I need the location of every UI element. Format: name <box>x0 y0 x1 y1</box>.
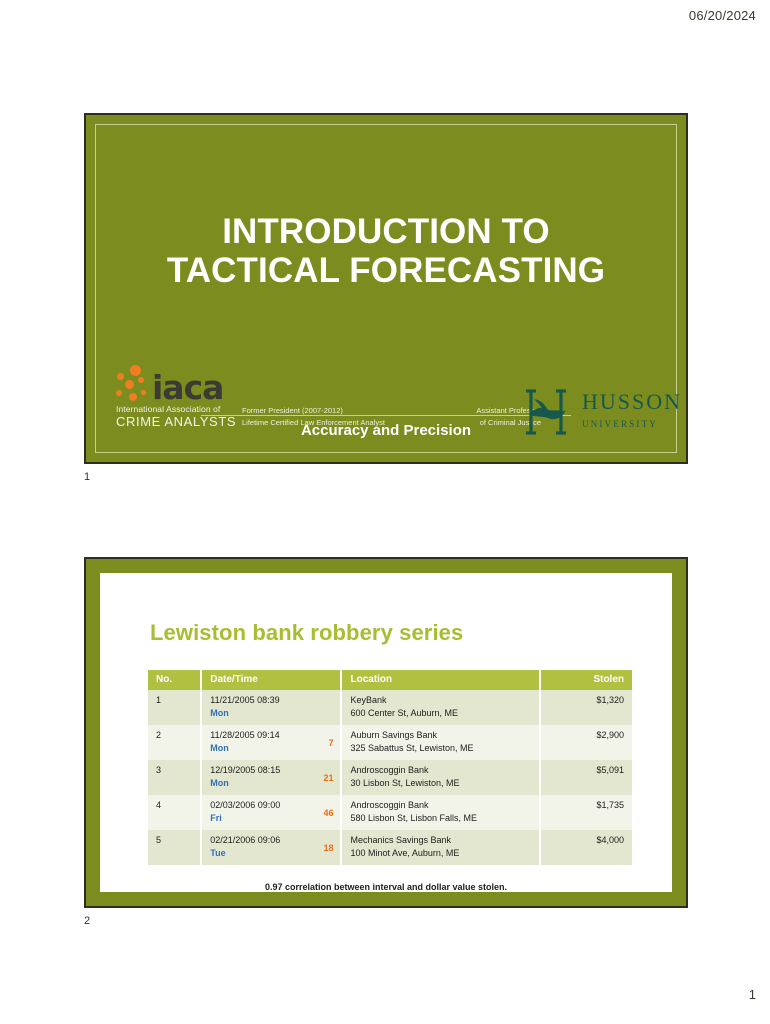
cell-stolen: $2,900 <box>540 725 632 760</box>
cell-location-address: 325 Sabattus St, Lewiston, ME <box>350 743 530 753</box>
husson-wordmark: HUSSON UNIVERSITY <box>582 392 682 432</box>
cell-no: 1 <box>148 690 201 725</box>
cell-datetime: 11/21/2005 08:39 Mon <box>201 690 341 725</box>
cell-location: Mechanics Savings Bank 100 Minot Ave, Au… <box>341 830 539 865</box>
cell-day: Tue <box>210 848 310 858</box>
table-header-row: No. Date/Time Location Stolen <box>148 670 632 690</box>
cell-datetime: 11/28/2005 09:14 Mon 7 <box>201 725 341 760</box>
cell-datetime: 02/21/2006 09:06 Tue 18 <box>201 830 341 865</box>
cell-datetime: 02/03/2006 09:00 Fri 46 <box>201 795 341 830</box>
cell-interval-days: 46 <box>323 808 333 818</box>
slide-2-canvas: Lewiston bank robbery series No. Date/Ti… <box>84 557 688 908</box>
cell-no: 2 <box>148 725 201 760</box>
author-credit-line-1: Former President (2007-2012) <box>242 405 385 417</box>
cell-location-name: Auburn Savings Bank <box>350 730 530 740</box>
husson-wordmark-subname: UNIVERSITY <box>582 419 658 429</box>
cell-day: Mon <box>210 743 310 753</box>
cell-location: KeyBank 600 Center St, Auburn, ME <box>341 690 539 725</box>
slide-2-content-area: Lewiston bank robbery series No. Date/Ti… <box>100 573 672 892</box>
table-row[interactable]: 2 11/28/2005 09:14 Mon 7 Auburn Savings … <box>148 725 632 760</box>
column-header-stolen[interactable]: Stolen <box>540 670 632 690</box>
page-number: 1 <box>749 987 756 1002</box>
husson-logo: HUSSON UNIVERSITY <box>523 387 682 437</box>
cell-location-address: 600 Center St, Auburn, ME <box>350 708 530 718</box>
slide-1-title-line-1: INTRODUCTION TO <box>86 212 686 251</box>
cell-datetime: 12/19/2005 08:15 Mon 21 <box>201 760 341 795</box>
cell-day: Mon <box>210 778 310 788</box>
cell-day: Fri <box>210 813 310 823</box>
table-row[interactable]: 5 02/21/2006 09:06 Tue 18 Mechanics Savi… <box>148 830 632 865</box>
slide-2-heading: Lewiston bank robbery series <box>150 620 463 646</box>
cell-location-address: 30 Lisbon St, Lewiston, ME <box>350 778 530 788</box>
cell-stolen: $4,000 <box>540 830 632 865</box>
author-iaca-credits: Former President (2007-2012) Lifetime Ce… <box>242 405 385 428</box>
cell-date: 11/28/2005 09:14 <box>210 730 310 740</box>
slide-2-number: 2 <box>84 915 90 927</box>
iaca-wordmark: iaca <box>152 373 223 403</box>
column-header-no[interactable]: No. <box>148 670 201 690</box>
page-date: 06/20/2024 <box>689 8 756 23</box>
slide-1-title: INTRODUCTION TO TACTICAL FORECASTING <box>86 212 686 290</box>
cell-location: Androscoggin Bank 30 Lisbon St, Lewiston… <box>341 760 539 795</box>
slide-1-number: 1 <box>84 471 90 483</box>
slide-2-footnote: 0.97 correlation between interval and do… <box>100 882 672 892</box>
column-header-datetime[interactable]: Date/Time <box>201 670 341 690</box>
cell-location-address: 100 Minot Ave, Auburn, ME <box>350 848 530 858</box>
cell-stolen: $5,091 <box>540 760 632 795</box>
slide-1-title-line-2: TACTICAL FORECASTING <box>86 251 686 290</box>
cell-date: 12/19/2005 08:15 <box>210 765 310 775</box>
cell-stolen: $1,320 <box>540 690 632 725</box>
cell-location: Auburn Savings Bank 325 Sabattus St, Lew… <box>341 725 539 760</box>
cell-no: 3 <box>148 760 201 795</box>
cell-interval-days: 18 <box>323 843 333 853</box>
cell-day: Mon <box>210 708 310 718</box>
bank-robbery-table: No. Date/Time Location Stolen 1 11/21/20… <box>148 670 632 865</box>
cell-date: 02/21/2006 09:06 <box>210 835 310 845</box>
cell-date: 02/03/2006 09:00 <box>210 800 310 810</box>
slide-2[interactable]: Lewiston bank robbery series No. Date/Ti… <box>84 557 688 908</box>
iaca-dots-icon <box>116 365 154 403</box>
cell-stolen: $1,735 <box>540 795 632 830</box>
table-body: 1 11/21/2005 08:39 Mon KeyBank 600 Cente… <box>148 690 632 865</box>
iaca-logo-mark-row: iaca <box>116 363 256 403</box>
cell-date: 11/21/2005 08:39 <box>210 695 310 705</box>
cell-interval-days: 21 <box>323 773 333 783</box>
cell-location-name: Mechanics Savings Bank <box>350 835 530 845</box>
iaca-logo: iaca International Association of CRIME … <box>116 363 256 429</box>
cell-interval-days: 7 <box>328 738 333 748</box>
table-row[interactable]: 3 12/19/2005 08:15 Mon 21 Androscoggin B… <box>148 760 632 795</box>
slide-1-author: Christopher W. Bruce <box>86 481 686 498</box>
husson-eagle-h-icon <box>523 387 575 437</box>
iaca-subtitle-line-1: International Association of <box>116 404 256 414</box>
cell-location-name: Androscoggin Bank <box>350 800 530 810</box>
cell-location: Androscoggin Bank 580 Lisbon St, Lisbon … <box>341 795 539 830</box>
table-row[interactable]: 4 02/03/2006 09:00 Fri 46 Androscoggin B… <box>148 795 632 830</box>
cell-location-name: Androscoggin Bank <box>350 765 530 775</box>
husson-wordmark-name: HUSSON <box>582 389 682 414</box>
cell-location-name: KeyBank <box>350 695 530 705</box>
slide-1-canvas: INTRODUCTION TO TACTICAL FORECASTING Acc… <box>84 113 688 464</box>
iaca-subtitle-line-2: CRIME ANALYSTS <box>116 414 256 429</box>
cell-location-address: 580 Lisbon St, Lisbon Falls, ME <box>350 813 530 823</box>
slide-1[interactable]: INTRODUCTION TO TACTICAL FORECASTING Acc… <box>84 113 688 464</box>
column-header-location[interactable]: Location <box>341 670 539 690</box>
table-row[interactable]: 1 11/21/2005 08:39 Mon KeyBank 600 Cente… <box>148 690 632 725</box>
table-head: No. Date/Time Location Stolen <box>148 670 632 690</box>
cell-no: 4 <box>148 795 201 830</box>
cell-no: 5 <box>148 830 201 865</box>
author-credit-line-2: Lifetime Certified Law Enforcement Analy… <box>242 417 385 429</box>
